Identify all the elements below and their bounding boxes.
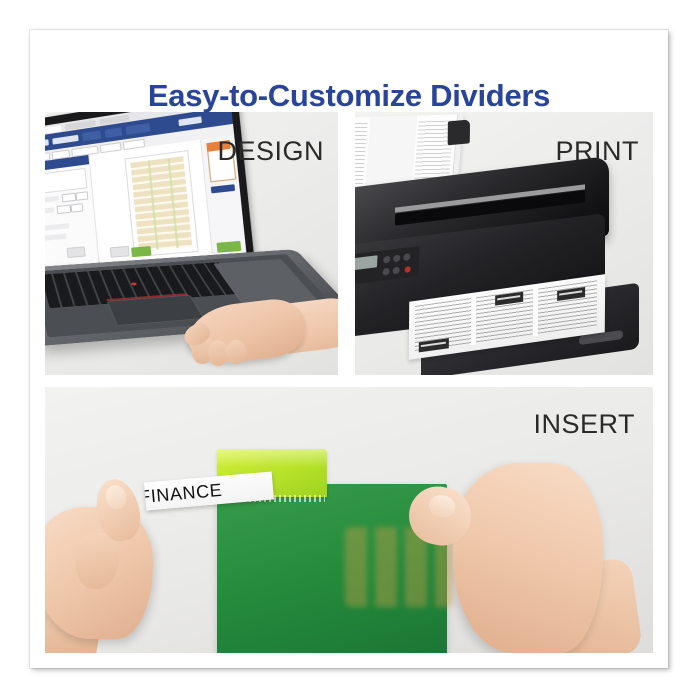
- ribbon-item: [82, 130, 101, 141]
- power-indicator-icon[interactable]: [404, 266, 410, 273]
- panel-caption-print: PRINT: [556, 136, 640, 167]
- sheet-column-gap: [471, 296, 476, 345]
- rail-action[interactable]: [211, 184, 235, 193]
- next-button[interactable]: [217, 241, 242, 253]
- right-thumbnail: [427, 493, 457, 520]
- left-hand: [45, 471, 195, 651]
- form-field-input[interactable]: [57, 205, 72, 215]
- panel-caption-design: DESIGN: [217, 136, 324, 167]
- printer-button[interactable]: [403, 253, 410, 261]
- printer-display: [355, 255, 378, 271]
- printer-button[interactable]: [382, 268, 389, 276]
- form-field-input[interactable]: [71, 203, 84, 212]
- tab-sheen: [217, 449, 327, 467]
- printer-control-panel[interactable]: [355, 246, 420, 286]
- product-image-card: Easy-to-Customize Dividers: [30, 30, 668, 668]
- panel-print: PRINT: [355, 112, 653, 375]
- left-thumbnail: [104, 483, 129, 511]
- preview-tab-columns: [130, 156, 192, 251]
- printer-button[interactable]: [392, 266, 399, 274]
- ribbon-item: [105, 127, 123, 138]
- form-card: [45, 168, 87, 195]
- form-field-input[interactable]: [61, 193, 76, 203]
- ribbon-item: [178, 116, 201, 126]
- design-form-panel: [45, 155, 101, 277]
- right-hand: [403, 433, 603, 653]
- screenshot-root: Easy-to-Customize Dividers: [0, 0, 700, 700]
- apply-button[interactable]: [131, 246, 151, 257]
- form-field-label: [45, 207, 54, 214]
- ribbon-item: [52, 135, 78, 145]
- paper-guide[interactable]: [448, 119, 470, 145]
- sheet-column-gap: [533, 288, 538, 337]
- form-field-label: [45, 234, 67, 242]
- ribbon-item: [126, 123, 151, 135]
- back-button[interactable]: [110, 246, 130, 258]
- form-field-label: [45, 223, 70, 231]
- right-palm: [453, 463, 603, 653]
- printer-button[interactable]: [393, 254, 400, 262]
- printer-illustration: [355, 148, 653, 375]
- printer-button[interactable]: [383, 256, 390, 264]
- divider-sheet-preview: [124, 150, 198, 257]
- form-field-input[interactable]: [75, 191, 88, 201]
- form-field-label: [45, 196, 59, 204]
- cancel-button[interactable]: [67, 246, 86, 258]
- panel-caption-insert: INSERT: [533, 409, 635, 440]
- panel-insert: FINANCE INSER: [45, 387, 653, 653]
- page-title: Easy-to-Customize Dividers: [30, 78, 668, 114]
- panel-design: DESIGN: [45, 112, 338, 375]
- ribbon-item: [45, 139, 49, 148]
- trackpoint-icon[interactable]: [131, 282, 137, 285]
